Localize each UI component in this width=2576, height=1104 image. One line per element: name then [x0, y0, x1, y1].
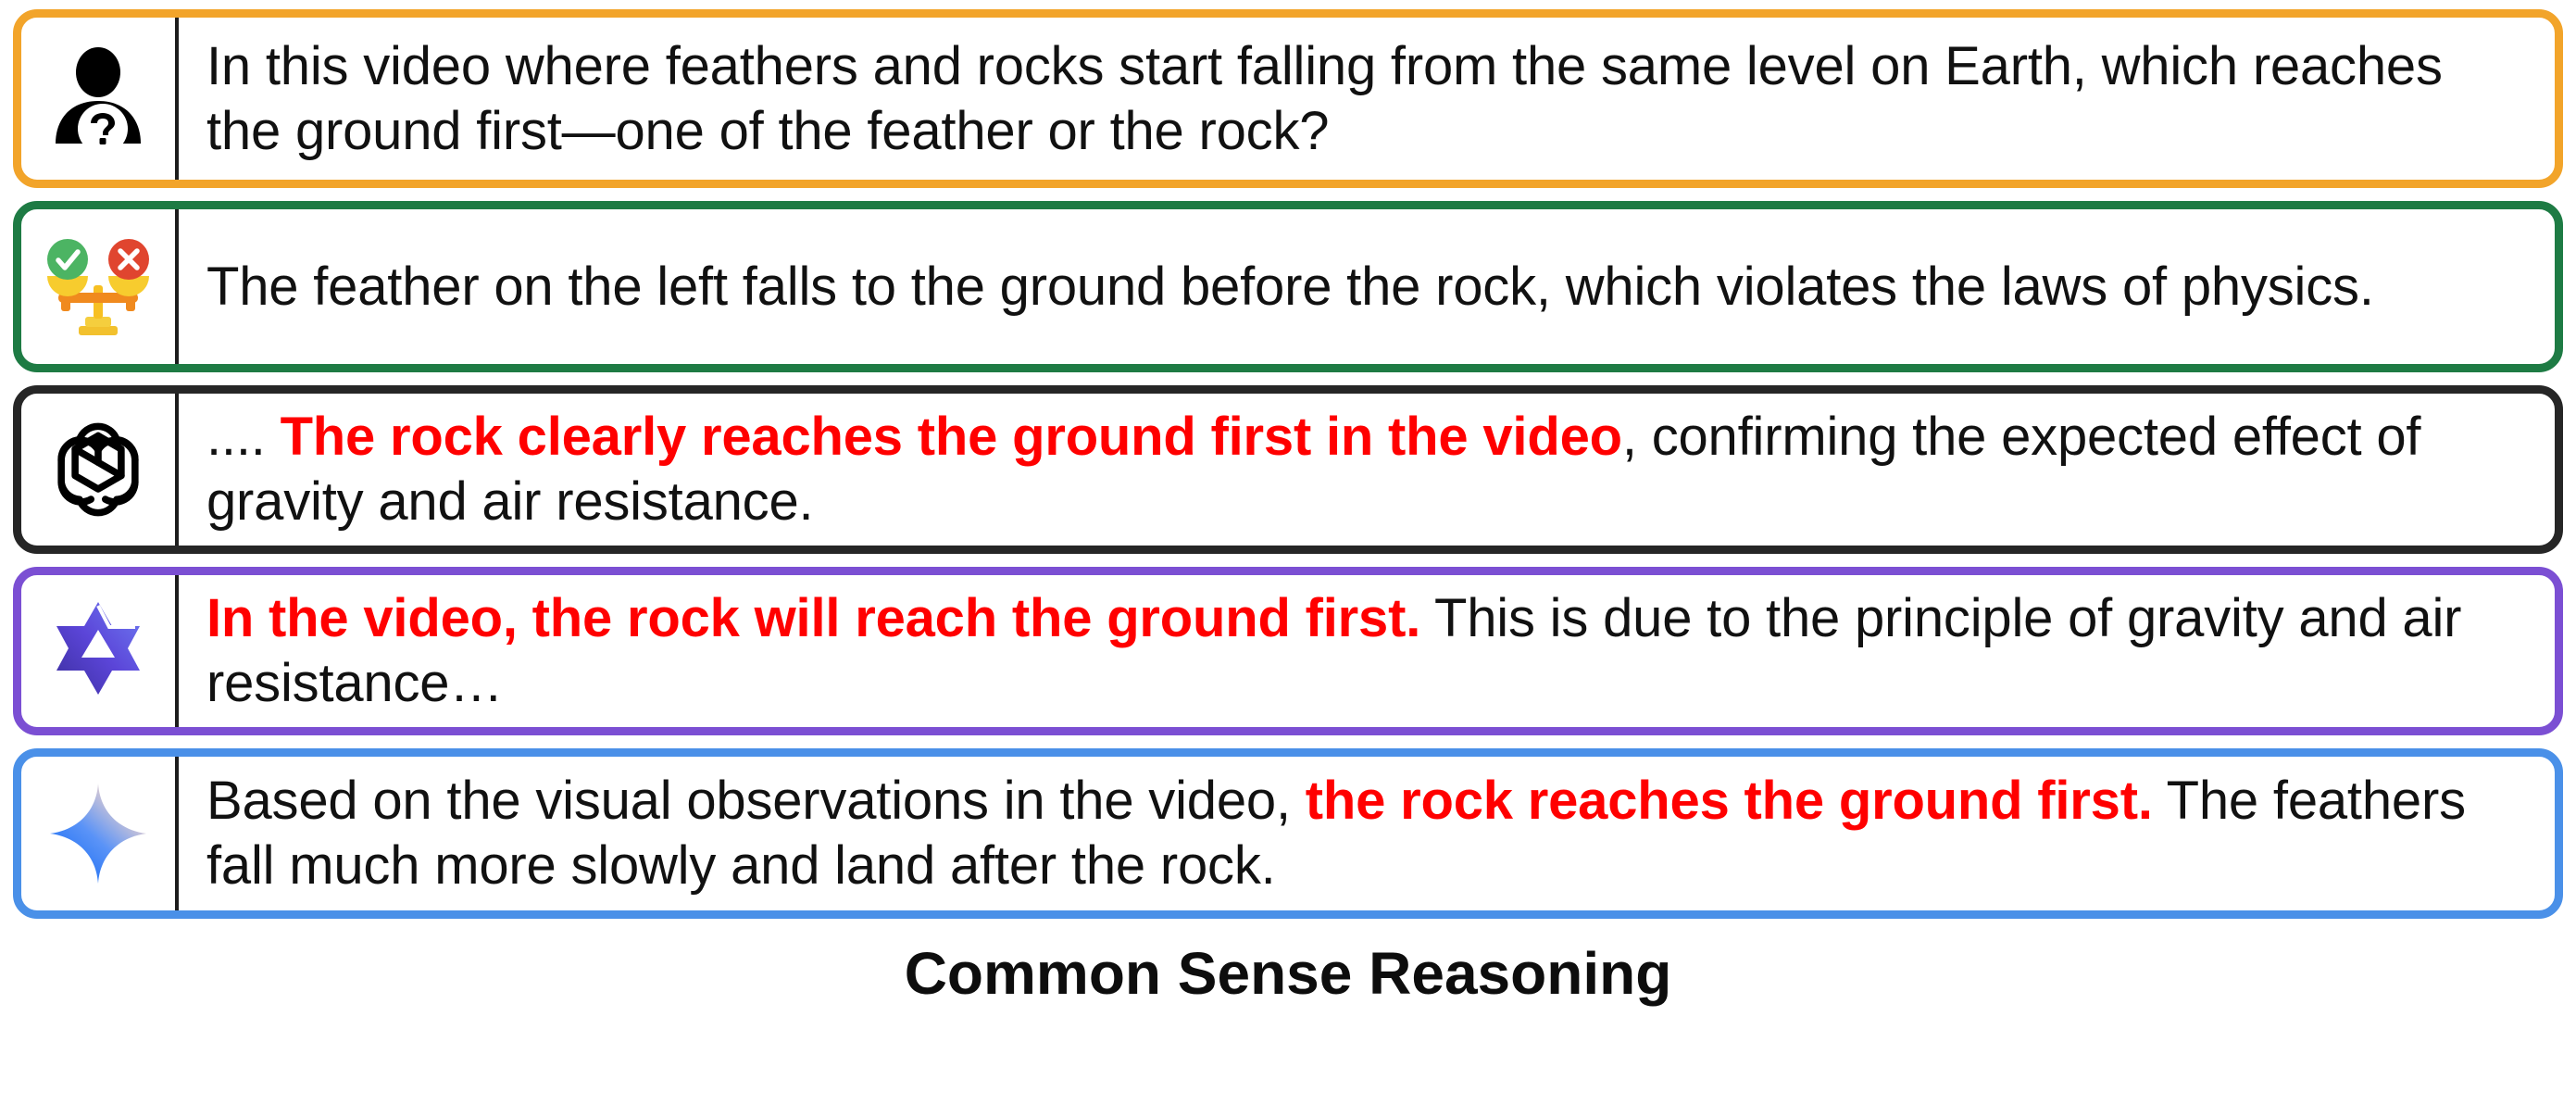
openai-text: .... The rock clearly reaches the ground… — [206, 405, 2531, 533]
ground-truth-text: The feather on the left falls to the gro… — [206, 255, 2374, 320]
question-icon-cell — [21, 18, 175, 180]
question-text: In this video where feathers and rocks s… — [206, 34, 2531, 163]
qwen-text: In the video, the rock will reach the gr… — [206, 586, 2531, 715]
user-question-icon — [50, 47, 146, 151]
figure-caption: Common Sense Reasoning — [13, 939, 2563, 1008]
balance-scale-icon — [44, 235, 153, 339]
qwen-row: In the video, the rock will reach the gr… — [13, 567, 2563, 735]
ground-truth-icon-cell — [21, 209, 175, 364]
openai-icon — [44, 415, 153, 524]
gemini-text: Based on the visual observations in the … — [206, 769, 2531, 897]
openai-row: .... The rock clearly reaches the ground… — [13, 385, 2563, 554]
gemini-icon-cell — [21, 757, 175, 910]
ground-truth-text-cell: The feather on the left falls to the gro… — [179, 209, 2555, 364]
gemini-icon — [46, 780, 150, 887]
openai-text-cell: .... The rock clearly reaches the ground… — [179, 394, 2555, 546]
gemini-row: Based on the visual observations in the … — [13, 748, 2563, 919]
qwen-text-cell: In the video, the rock will reach the gr… — [179, 575, 2555, 727]
ground-truth-row: The feather on the left falls to the gro… — [13, 201, 2563, 372]
common-sense-reasoning-figure: In this video where feathers and rocks s… — [0, 0, 2576, 1104]
question-text-cell: In this video where feathers and rocks s… — [179, 18, 2555, 180]
qwen-icon-cell — [21, 575, 175, 727]
qwen-icon — [43, 598, 154, 704]
question-row: In this video where feathers and rocks s… — [13, 9, 2563, 188]
gemini-text-cell: Based on the visual observations in the … — [179, 757, 2555, 910]
openai-icon-cell — [21, 394, 175, 546]
